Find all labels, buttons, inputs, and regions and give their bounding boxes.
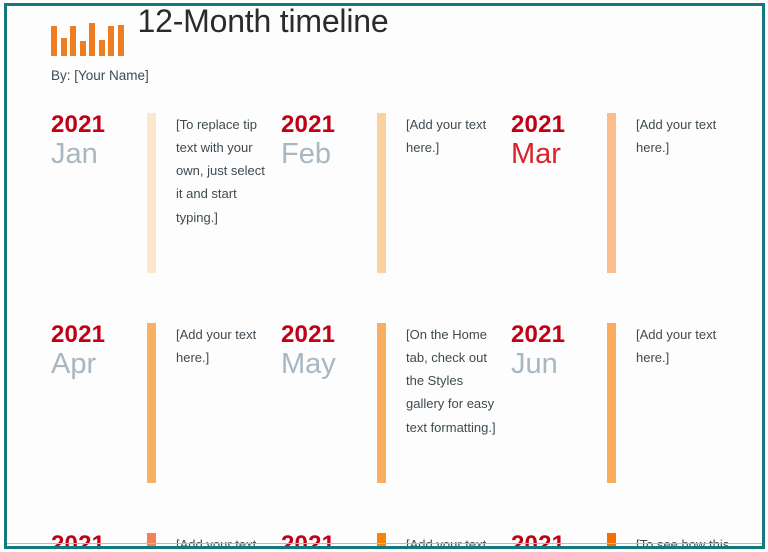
timeline-entry-bar: [147, 533, 156, 549]
timeline-entry-year[interactable]: 2021: [511, 323, 607, 348]
timeline-entry-note[interactable]: [Add your text here.]: [636, 107, 741, 159]
timeline-entry-year[interactable]: 2021: [281, 533, 377, 549]
bar-chart-icon-bar-3: [70, 26, 76, 56]
bar-chart-icon-bar-7: [108, 26, 114, 56]
timeline-entry-note[interactable]: [To see how this page will: [636, 527, 741, 549]
timeline-entry-note[interactable]: [Add your text here.]: [636, 317, 741, 369]
timeline-grid: 2021Jan[To replace tip text with your ow…: [51, 107, 762, 549]
timeline-entry-date: 2021Feb: [281, 107, 377, 171]
timeline-entry: 2021Apr[Add your text here.]: [51, 317, 281, 527]
timeline-entry-bar: [377, 533, 386, 549]
timeline-entry: 2021Aug[Add your text here.]: [281, 527, 511, 549]
bar-chart-icon-bar-1: [51, 26, 57, 56]
timeline-entry-year[interactable]: 2021: [51, 113, 147, 138]
timeline-entry-month[interactable]: Jan: [51, 139, 147, 171]
timeline-entry-bar: [147, 113, 156, 273]
document-header: 12-Month timeline: [51, 15, 762, 59]
byline[interactable]: By: [Your Name]: [51, 68, 762, 83]
document-body: 12-Month timeline By: [Your Name] 2021Ja…: [7, 6, 762, 549]
bar-chart-icon-bar-2: [61, 38, 67, 56]
timeline-entry-month[interactable]: May: [281, 349, 377, 381]
timeline-entry-note[interactable]: [Add your text here.]: [176, 527, 281, 549]
timeline-entry-date: 2021Apr: [51, 317, 147, 381]
timeline-entry: 2021May[On the Home tab, check out the S…: [281, 317, 511, 527]
page-title: 12-Month timeline: [138, 5, 389, 38]
timeline-entry-note[interactable]: [Add your text here.]: [406, 107, 511, 159]
timeline-entry: 2021Jun[Add your text here.]: [511, 317, 741, 527]
timeline-entry-bar: [607, 113, 616, 273]
bar-chart-icon: [51, 26, 124, 59]
timeline-entry-date: 2021Jan: [51, 107, 147, 171]
timeline-entry: 2021Mar[Add your text here.]: [511, 107, 741, 317]
timeline-entry-year[interactable]: 2021: [281, 323, 377, 348]
timeline-entry-month[interactable]: Apr: [51, 349, 147, 381]
bar-chart-icon-bar-4: [80, 41, 86, 56]
bar-chart-icon-bar-5: [89, 23, 95, 56]
timeline-entry-bar: [147, 323, 156, 483]
timeline-entry-month[interactable]: Mar: [511, 139, 607, 171]
timeline-entry-date: 2021May: [281, 317, 377, 381]
timeline-entry-year[interactable]: 2021: [511, 533, 607, 549]
timeline-entry-date: 2021Jul: [51, 527, 147, 549]
timeline-entry-month[interactable]: Jun: [511, 349, 607, 381]
timeline-entry-month[interactable]: Feb: [281, 139, 377, 171]
timeline-entry-year[interactable]: 2021: [51, 323, 147, 348]
timeline-entry-year[interactable]: 2021: [51, 533, 147, 549]
timeline-entry-note[interactable]: [Add your text here.]: [176, 317, 281, 369]
timeline-entry-date: 2021Aug: [281, 527, 377, 549]
timeline-entry-bar: [607, 533, 616, 549]
timeline-entry-year[interactable]: 2021: [281, 113, 377, 138]
timeline-entry-note[interactable]: [On the Home tab, check out the Styles g…: [406, 317, 511, 439]
timeline-entry-bar: [607, 323, 616, 483]
timeline-entry-bar: [377, 113, 386, 273]
timeline-entry: 2021Jul[Add your text here.]: [51, 527, 281, 549]
timeline-entry: 2021Feb[Add your text here.]: [281, 107, 511, 317]
timeline-entry: 2021Jan[To replace tip text with your ow…: [51, 107, 281, 317]
document-page-frame: 12-Month timeline By: [Your Name] 2021Ja…: [4, 3, 765, 549]
bar-chart-icon-bar-6: [99, 40, 105, 56]
bar-chart-icon-bar-8: [118, 25, 124, 56]
timeline-entry-note[interactable]: [Add your text here.]: [406, 527, 511, 549]
timeline-entry-date: 2021Sep: [511, 527, 607, 549]
timeline-entry-bar: [377, 323, 386, 483]
timeline-entry-date: 2021Mar: [511, 107, 607, 171]
bottom-divider: [7, 543, 762, 544]
timeline-entry-note[interactable]: [To replace tip text with your own, just…: [176, 107, 281, 229]
timeline-entry-date: 2021Jun: [511, 317, 607, 381]
timeline-entry: 2021Sep[To see how this page will: [511, 527, 741, 549]
timeline-entry-year[interactable]: 2021: [511, 113, 607, 138]
